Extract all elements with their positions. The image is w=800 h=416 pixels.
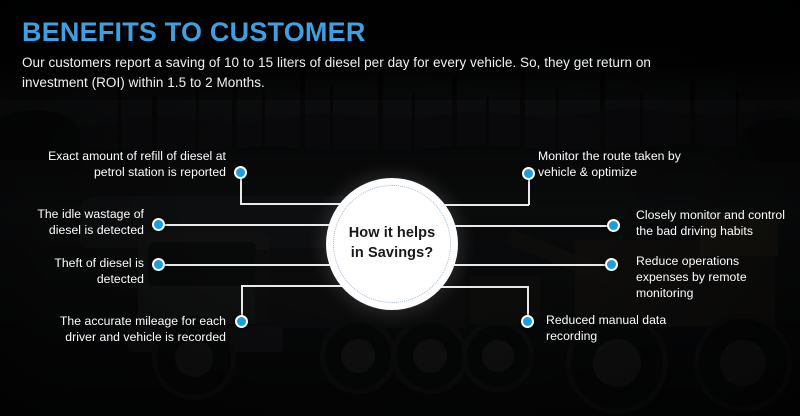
connector-theft-detection-horizontal: [158, 264, 333, 266]
tree-silhouette: [412, 92, 415, 152]
callout-line: The accurate mileage for each: [10, 313, 226, 329]
callout-line: Theft of diesel is: [10, 255, 144, 271]
callout-label-reduce-expenses: Reduce operations expenses by remote mon…: [636, 253, 786, 302]
tree-silhouette: [556, 88, 559, 152]
header-block: BENEFITS TO CUSTOMER Our customers repor…: [22, 18, 762, 92]
callout-dot-refill-amount[interactable]: [234, 166, 247, 179]
callout-line: expenses by remote: [636, 269, 786, 285]
truck-wheel: [392, 318, 468, 394]
callout-dot-route-monitor[interactable]: [522, 167, 535, 180]
callout-line: petrol station is reported: [10, 164, 226, 180]
callout-label-accurate-mileage: The accurate mileage for each driver and…: [10, 313, 226, 345]
hub-label-line2: in Savings?: [349, 244, 436, 264]
callout-dot-driving-habits[interactable]: [607, 219, 620, 232]
connector-idle-wastage-horizontal: [158, 224, 333, 226]
connector-reduce-expenses-horizontal: [452, 264, 612, 266]
tree-silhouette: [262, 90, 265, 152]
callout-line: Closely monitor and control: [636, 207, 796, 223]
callout-label-idle-wastage: The idle wastage of diesel is detected: [10, 206, 144, 238]
callout-label-route-monitor: Monitor the route taken by vehicle & opt…: [538, 148, 788, 180]
tree-silhouette: [736, 90, 739, 152]
tree-silhouette: [330, 86, 333, 152]
tree-silhouette: [486, 96, 489, 152]
callout-line: Reduced manual data: [546, 312, 746, 328]
callout-line: diesel is detected: [10, 222, 144, 238]
truck-wheel: [462, 320, 534, 392]
callout-label-driving-habits: Closely monitor and control the bad driv…: [636, 207, 796, 239]
tree-silhouette: [118, 84, 121, 150]
callout-line: Reduce operations: [636, 253, 786, 269]
callout-dot-idle-wastage[interactable]: [152, 218, 165, 231]
slide-canvas: BENEFITS TO CUSTOMER Our customers repor…: [0, 0, 800, 416]
callout-dot-theft-detection[interactable]: [152, 258, 165, 271]
callout-line: detected: [10, 271, 144, 287]
loader-arm: [505, 229, 613, 285]
connector-manual-data-horizontal: [428, 286, 528, 288]
page-title: BENEFITS TO CUSTOMER: [22, 18, 762, 46]
hub-label: How it helps in Savings?: [349, 224, 436, 263]
page-subtitle: Our customers report a saving of 10 to 1…: [22, 53, 682, 92]
callout-label-theft-detection: Theft of diesel is detected: [10, 255, 144, 287]
callout-line: The idle wastage of: [10, 206, 144, 222]
callout-label-manual-data: Reduced manual data recording: [546, 312, 746, 344]
callout-line: the bad driving habits: [636, 223, 796, 239]
callout-line: Monitor the route taken by: [538, 148, 788, 164]
tree-silhouette: [152, 96, 157, 152]
callout-dot-manual-data[interactable]: [521, 315, 534, 328]
callout-line: monitoring: [636, 285, 786, 301]
callout-line: recording: [546, 328, 746, 344]
callout-line: driver and vehicle is recorded: [10, 329, 226, 345]
center-hub: How it helps in Savings?: [326, 178, 458, 310]
hub-label-line1: How it helps: [349, 224, 436, 244]
callout-line: vehicle & optimize: [538, 164, 788, 180]
connector-driving-habits-horizontal: [452, 225, 614, 227]
tree-silhouette: [640, 94, 643, 152]
callout-dot-reduce-expenses[interactable]: [605, 258, 618, 271]
callout-line: Exact amount of refill of diesel at: [10, 148, 226, 164]
truck-cab: [138, 232, 270, 324]
truck-wheel: [320, 318, 396, 394]
callout-label-refill-amount: Exact amount of refill of diesel at petr…: [10, 148, 226, 180]
callout-dot-accurate-mileage[interactable]: [235, 315, 248, 328]
